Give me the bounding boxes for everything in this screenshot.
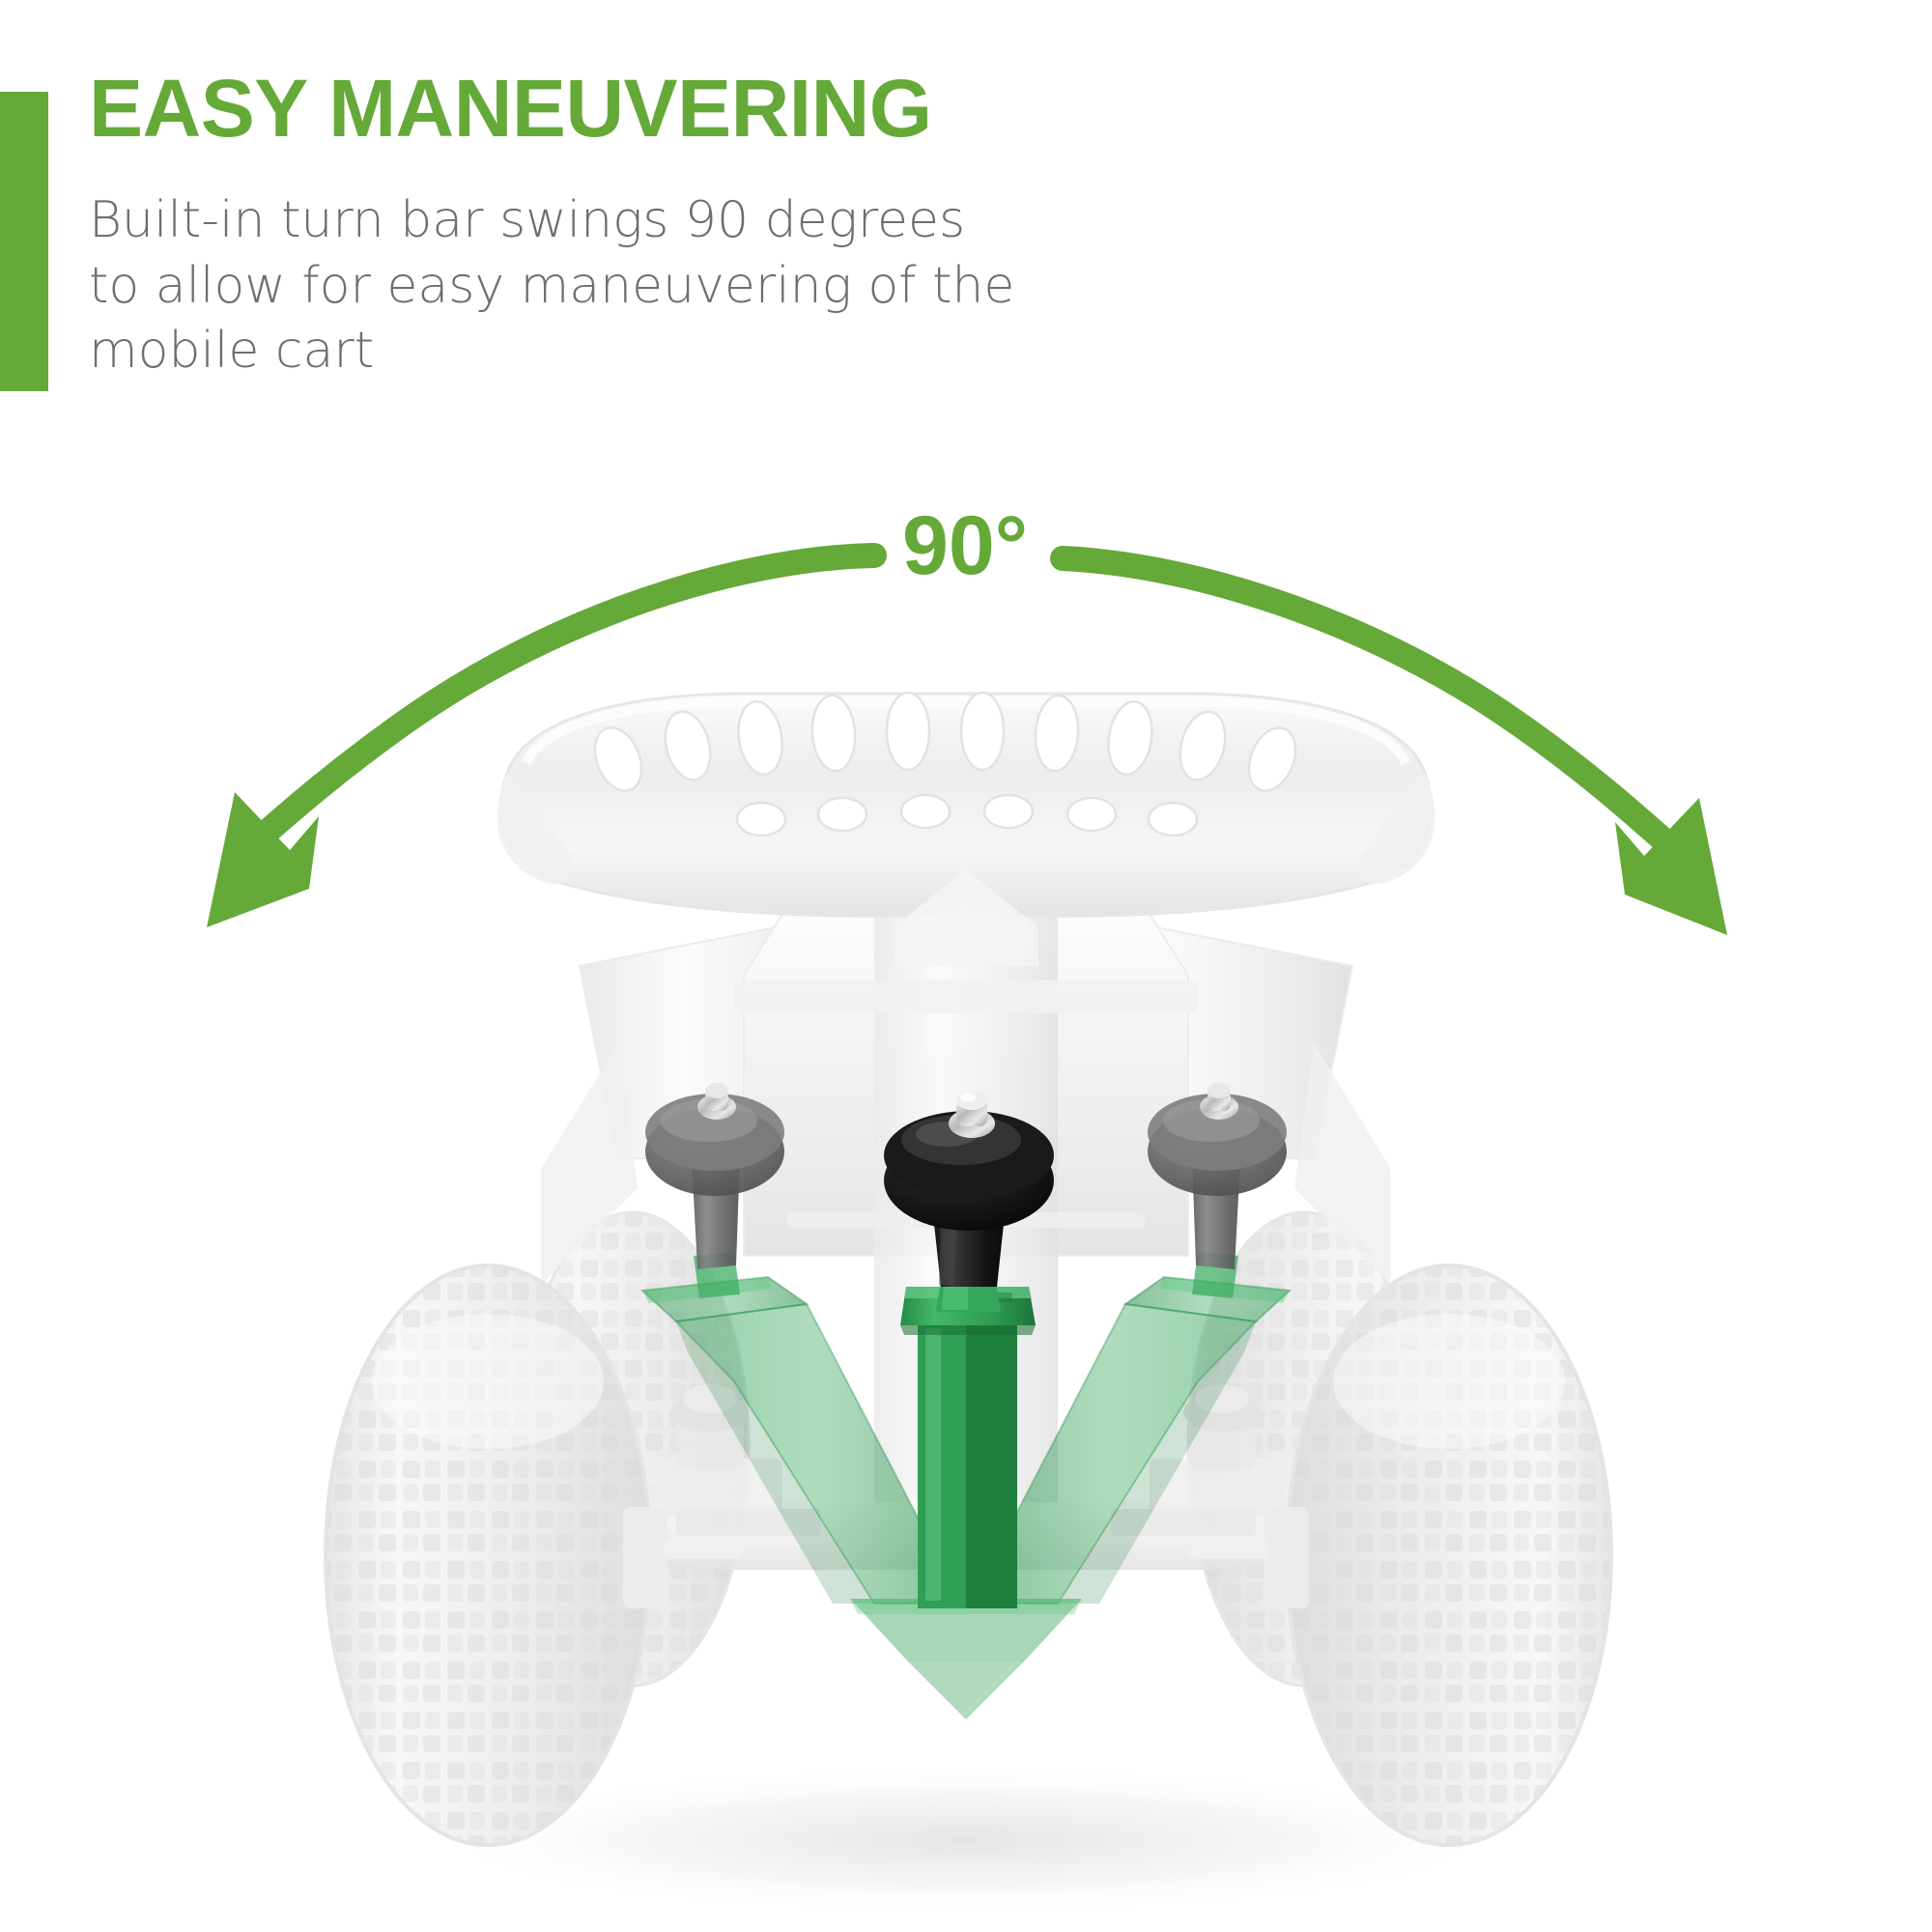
angle-value-label: 90° xyxy=(889,498,1041,594)
product-feature-graphic: EASY MANEUVERING Built-in turn bar swing… xyxy=(0,0,1932,1932)
rotation-arc-left xyxy=(246,555,874,850)
rotation-arc-right xyxy=(1063,558,1686,860)
rotation-arc-annotation xyxy=(0,0,1932,1932)
